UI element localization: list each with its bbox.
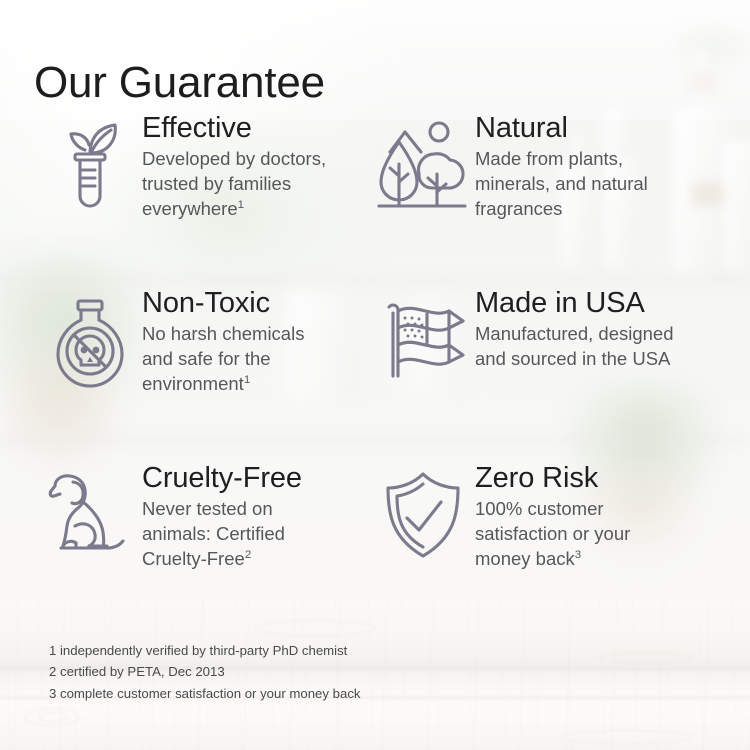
desc-line: Developed by doctors,	[142, 148, 326, 169]
feature-title: Made in USA	[475, 287, 750, 319]
desc-line: 100% customer	[475, 498, 604, 519]
footnote-marker: 1	[244, 374, 250, 386]
footnote-marker: 2	[245, 549, 251, 561]
desc-line: Never tested on	[142, 498, 273, 519]
feature-description: No harsh chemicals and safe for the envi…	[142, 322, 375, 397]
feature-text-made-in-usa: Made in USA Manufactured, designed and s…	[471, 287, 750, 372]
usa-flag-icon	[375, 287, 471, 385]
feature-text-effective: Effective Developed by doctors, trusted …	[138, 112, 375, 222]
desc-line: environment	[142, 373, 244, 394]
guarantee-infographic: Our Guarantee	[0, 0, 750, 750]
feature-effective: Effective Developed by doctors, trusted …	[0, 112, 375, 287]
feature-title: Natural	[475, 112, 750, 144]
footnotes-block: 1 independently verified by third-party …	[49, 640, 361, 704]
desc-line: satisfaction or your	[475, 523, 630, 544]
desc-line: Manufactured, designed	[475, 323, 674, 344]
feature-natural: Natural Made from plants, minerals, and …	[375, 112, 750, 287]
feature-title: Effective	[142, 112, 375, 144]
desc-line: and safe for the	[142, 348, 271, 369]
features-row-3: Cruelty-Free Never tested on animals: Ce…	[0, 462, 750, 637]
shield-check-icon	[375, 462, 471, 564]
feature-title: Non-Toxic	[142, 287, 375, 319]
poison-bottle-skull-prohibited-icon	[42, 287, 138, 393]
feature-zero-risk: Zero Risk 100% customer satisfaction or …	[375, 462, 750, 637]
page-title: Our Guarantee	[34, 61, 325, 105]
features-row-2: Non-Toxic No harsh chemicals and safe fo…	[0, 287, 750, 462]
footnote-marker: 3	[575, 549, 581, 561]
sitting-dog-icon	[42, 462, 138, 560]
trees-mountain-sun-icon	[375, 112, 471, 214]
test-tube-leaf-icon	[42, 112, 138, 218]
footnote-3: 3 complete customer satisfaction or your…	[49, 683, 361, 704]
feature-text-natural: Natural Made from plants, minerals, and …	[471, 112, 750, 222]
feature-text-non-toxic: Non-Toxic No harsh chemicals and safe fo…	[138, 287, 375, 397]
desc-line: trusted by families	[142, 173, 291, 194]
desc-line: No harsh chemicals	[142, 323, 304, 344]
feature-text-zero-risk: Zero Risk 100% customer satisfaction or …	[471, 462, 750, 572]
feature-description: Developed by doctors, trusted by familie…	[142, 147, 375, 222]
footnote-marker: 1	[238, 199, 244, 211]
desc-line: fragrances	[475, 198, 562, 219]
feature-title: Zero Risk	[475, 462, 750, 494]
desc-line: minerals, and natural	[475, 173, 648, 194]
desc-line: everywhere	[142, 198, 238, 219]
feature-text-cruelty-free: Cruelty-Free Never tested on animals: Ce…	[138, 462, 375, 572]
desc-line: Made from plants,	[475, 148, 623, 169]
desc-line: Cruelty-Free	[142, 548, 245, 569]
footnote-1: 1 independently verified by third-party …	[49, 640, 361, 661]
feature-cruelty-free: Cruelty-Free Never tested on animals: Ce…	[0, 462, 375, 637]
feature-description: 100% customer satisfaction or your money…	[475, 497, 720, 572]
desc-line: animals: Certified	[142, 523, 285, 544]
footnote-2: 2 certified by PETA, Dec 2013	[49, 661, 361, 682]
feature-description: Manufactured, designed and sourced in th…	[475, 322, 735, 372]
feature-non-toxic: Non-Toxic No harsh chemicals and safe fo…	[0, 287, 375, 462]
features-row-1: Effective Developed by doctors, trusted …	[0, 112, 750, 287]
feature-description: Made from plants, minerals, and natural …	[475, 147, 720, 222]
feature-made-in-usa: Made in USA Manufactured, designed and s…	[375, 287, 750, 462]
desc-line: and sourced in the USA	[475, 348, 670, 369]
desc-line: money back	[475, 548, 575, 569]
feature-description: Never tested on animals: Certified Cruel…	[142, 497, 375, 572]
features-grid: Effective Developed by doctors, trusted …	[0, 112, 750, 637]
feature-title: Cruelty-Free	[142, 462, 375, 494]
